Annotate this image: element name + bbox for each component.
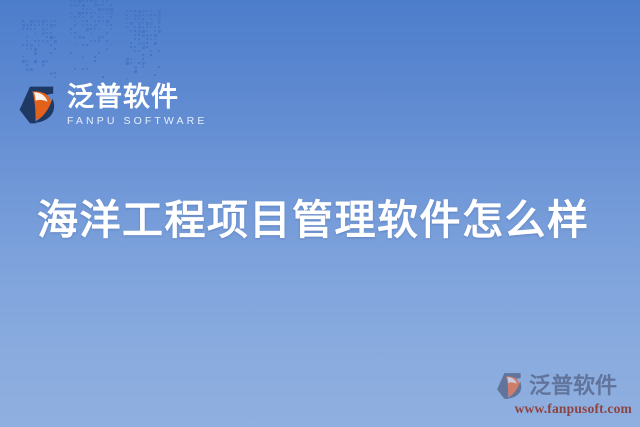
skyline-dot bbox=[82, 16, 84, 18]
skyline-dot bbox=[134, 34, 136, 36]
skyline-dot bbox=[50, 44, 52, 46]
skyline-dot bbox=[22, 20, 24, 22]
skyline-dot bbox=[26, 64, 28, 66]
skyline-dot bbox=[34, 24, 36, 26]
skyline-dot bbox=[142, 14, 144, 16]
skyline-dot bbox=[86, 0, 88, 2]
skyline-dot bbox=[54, 72, 56, 74]
skyline-dot bbox=[158, 30, 161, 33]
skyline-dot bbox=[82, 12, 84, 14]
skyline-dot bbox=[146, 42, 148, 44]
skyline-dot bbox=[86, 12, 88, 14]
skyline-dot bbox=[134, 70, 137, 73]
skyline-dot bbox=[110, 28, 112, 30]
skyline-dot bbox=[94, 60, 96, 62]
skyline-dot bbox=[106, 32, 108, 34]
skyline-dot bbox=[34, 48, 37, 51]
skyline-dot bbox=[70, 4, 73, 7]
skyline-dot bbox=[98, 40, 100, 42]
skyline-dot bbox=[26, 44, 28, 46]
skyline-dot bbox=[142, 42, 145, 45]
watermark-name-cn: 泛普软件 bbox=[529, 375, 617, 397]
dotted-skyline-pattern bbox=[22, 0, 172, 82]
skyline-dot bbox=[106, 0, 108, 2]
skyline-dot bbox=[102, 4, 104, 6]
skyline-dot bbox=[130, 58, 132, 60]
skyline-dot bbox=[90, 12, 92, 14]
skyline-dot bbox=[146, 38, 148, 40]
skyline-dot bbox=[138, 10, 141, 13]
skyline-dot bbox=[126, 18, 128, 20]
skyline-dot bbox=[90, 8, 92, 10]
skyline-dot bbox=[42, 24, 44, 26]
skyline-dot bbox=[150, 10, 152, 12]
skyline-dot bbox=[86, 20, 88, 22]
skyline-dot bbox=[146, 14, 148, 16]
skyline-dot bbox=[110, 4, 112, 6]
skyline-dot bbox=[34, 32, 36, 34]
skyline-dot bbox=[70, 28, 72, 30]
skyline-dot bbox=[106, 12, 108, 14]
skyline-dot bbox=[50, 32, 52, 34]
skyline-dot bbox=[22, 60, 25, 63]
skyline-dot bbox=[74, 32, 76, 34]
skyline-dot bbox=[90, 28, 92, 30]
skyline-dot bbox=[126, 78, 128, 80]
skyline-dot bbox=[46, 60, 48, 62]
brand-name-en: FANPU SOFTWARE bbox=[67, 116, 207, 127]
skyline-dot bbox=[158, 18, 161, 21]
skyline-dot bbox=[42, 28, 45, 31]
skyline-dot bbox=[138, 50, 140, 52]
skyline-dot bbox=[138, 18, 140, 20]
skyline-dot bbox=[130, 62, 132, 64]
skyline-dot bbox=[46, 36, 48, 38]
skyline-dot bbox=[74, 20, 76, 22]
skyline-dot bbox=[42, 40, 44, 42]
watermark: 泛普软件 www.fanpusoft.com bbox=[496, 372, 632, 417]
skyline-dot bbox=[98, 20, 100, 22]
skyline-dot bbox=[98, 8, 101, 11]
skyline-dot bbox=[50, 36, 53, 39]
skyline-dot bbox=[94, 12, 96, 14]
skyline-dot bbox=[34, 60, 37, 63]
skyline-dot bbox=[98, 36, 101, 39]
skyline-dot bbox=[130, 10, 132, 12]
skyline-dot bbox=[54, 24, 56, 26]
skyline-dot bbox=[134, 38, 136, 40]
skyline-dot bbox=[30, 68, 33, 71]
skyline-dot bbox=[78, 4, 80, 6]
skyline-dot bbox=[154, 30, 156, 32]
skyline-dot bbox=[146, 10, 148, 12]
skyline-dot bbox=[154, 74, 156, 76]
skyline-dot bbox=[150, 18, 152, 20]
skyline-dot bbox=[50, 52, 52, 54]
skyline-dot bbox=[154, 34, 157, 37]
skyline-dot bbox=[102, 36, 104, 38]
skyline-dot bbox=[74, 44, 76, 46]
skyline-dot bbox=[150, 54, 152, 56]
skyline-dot bbox=[50, 20, 52, 22]
skyline-dot bbox=[126, 26, 128, 28]
skyline-dot bbox=[130, 22, 133, 25]
skyline-dot bbox=[130, 42, 132, 44]
brand-lockup: 泛普软件 FANPU SOFTWARE bbox=[18, 84, 207, 127]
skyline-dot bbox=[46, 32, 48, 34]
skyline-dot bbox=[46, 24, 48, 26]
skyline-dot bbox=[86, 24, 88, 26]
skyline-dot bbox=[102, 20, 104, 22]
skyline-dot bbox=[70, 16, 72, 18]
skyline-dot bbox=[94, 0, 97, 3]
skyline-dot bbox=[38, 24, 40, 26]
skyline-dot bbox=[134, 66, 137, 69]
skyline-dot bbox=[70, 32, 72, 34]
skyline-dot bbox=[158, 50, 160, 52]
skyline-dot bbox=[86, 8, 88, 10]
skyline-dot bbox=[82, 44, 84, 46]
skyline-dot bbox=[90, 24, 92, 26]
skyline-dot bbox=[126, 10, 128, 12]
skyline-dot bbox=[90, 16, 93, 19]
skyline-dot bbox=[82, 24, 84, 26]
skyline-dot bbox=[70, 12, 72, 14]
skyline-dot bbox=[38, 40, 40, 42]
skyline-dot bbox=[54, 20, 56, 22]
skyline-dot bbox=[138, 42, 141, 45]
skyline-dot bbox=[94, 28, 96, 30]
page-title: 海洋工程项目管理软件怎么样 bbox=[37, 186, 590, 246]
skyline-dot bbox=[98, 52, 100, 54]
skyline-dot bbox=[38, 20, 40, 22]
skyline-dot bbox=[138, 30, 141, 33]
skyline-dot bbox=[138, 14, 141, 17]
skyline-dot bbox=[70, 52, 72, 54]
skyline-dot bbox=[154, 38, 156, 40]
skyline-dot bbox=[142, 10, 145, 13]
skyline-dot bbox=[26, 24, 29, 27]
skyline-dot bbox=[146, 30, 148, 32]
skyline-dot bbox=[70, 0, 72, 2]
brand-name-cn: 泛普软件 bbox=[67, 84, 207, 111]
watermark-row: 泛普软件 bbox=[496, 372, 632, 400]
skyline-dot bbox=[126, 22, 128, 24]
skyline-dot bbox=[106, 8, 109, 11]
skyline-dot bbox=[34, 52, 37, 55]
skyline-dot bbox=[38, 44, 40, 46]
watermark-url: www.fanpusoft.com bbox=[496, 401, 632, 417]
skyline-dot bbox=[126, 62, 129, 65]
skyline-dot bbox=[158, 66, 160, 68]
skyline-dot bbox=[142, 62, 145, 65]
skyline-dot bbox=[138, 34, 140, 36]
skyline-dot bbox=[46, 20, 48, 22]
skyline-dot bbox=[102, 0, 104, 2]
skyline-dot bbox=[78, 0, 81, 3]
skyline-dot bbox=[22, 44, 24, 46]
skyline-dot bbox=[106, 40, 108, 42]
skyline-dot bbox=[86, 68, 88, 70]
skyline-dot bbox=[134, 14, 137, 17]
fanpu-hexagon-logo-icon bbox=[496, 372, 524, 400]
skyline-dot bbox=[82, 68, 84, 70]
skyline-dot bbox=[82, 36, 85, 39]
skyline-dot bbox=[82, 56, 84, 58]
skyline-dot bbox=[130, 30, 132, 32]
skyline-dot bbox=[134, 46, 136, 48]
skyline-dot bbox=[54, 36, 56, 38]
skyline-dot bbox=[154, 42, 157, 45]
skyline-dot bbox=[94, 20, 96, 22]
skyline-dot bbox=[154, 14, 156, 16]
banner-canvas: 泛普软件 FANPU SOFTWARE 海洋工程项目管理软件怎么样 泛普软件 w… bbox=[0, 0, 640, 427]
skyline-dot bbox=[30, 24, 32, 26]
skyline-dot bbox=[74, 4, 77, 7]
skyline-dot bbox=[42, 20, 45, 23]
skyline-dot bbox=[86, 28, 89, 31]
skyline-dot bbox=[106, 24, 108, 26]
skyline-dot bbox=[102, 8, 105, 11]
skyline-dot bbox=[106, 20, 109, 23]
skyline-dot bbox=[34, 20, 36, 22]
skyline-dot bbox=[158, 10, 161, 13]
skyline-dot bbox=[138, 22, 141, 25]
skyline-dot bbox=[138, 38, 140, 40]
skyline-dot bbox=[86, 44, 88, 46]
skyline-dot bbox=[130, 46, 132, 48]
skyline-dot bbox=[74, 0, 76, 2]
skyline-dot bbox=[142, 26, 144, 28]
skyline-dot bbox=[30, 20, 33, 23]
skyline-dot bbox=[74, 16, 76, 18]
skyline-dot bbox=[134, 10, 136, 12]
skyline-dot bbox=[94, 40, 96, 42]
skyline-dot bbox=[142, 18, 144, 20]
skyline-dot bbox=[142, 30, 145, 33]
skyline-dot bbox=[106, 48, 108, 50]
skyline-dot bbox=[26, 36, 28, 38]
skyline-tower-mid bbox=[70, 0, 114, 82]
skyline-dot bbox=[82, 4, 85, 7]
skyline-dot bbox=[110, 8, 113, 11]
skyline-dot bbox=[94, 4, 97, 7]
skyline-dot bbox=[26, 40, 28, 42]
skyline-dot bbox=[146, 26, 148, 28]
skyline-dot bbox=[42, 60, 45, 63]
skyline-dot bbox=[54, 48, 56, 50]
skyline-dot bbox=[110, 12, 113, 15]
skyline-dot bbox=[126, 58, 129, 61]
skyline-dot bbox=[142, 58, 144, 60]
skyline-dot bbox=[134, 18, 136, 20]
skyline-dot bbox=[134, 30, 136, 32]
skyline-dot bbox=[150, 22, 153, 25]
skyline-dot bbox=[146, 46, 148, 48]
skyline-dot bbox=[78, 12, 81, 15]
skyline-dot bbox=[74, 36, 76, 38]
skyline-dot bbox=[126, 14, 128, 16]
skyline-dot bbox=[90, 32, 92, 34]
skyline-dot bbox=[22, 24, 25, 27]
skyline-dot bbox=[42, 32, 45, 35]
skyline-dot bbox=[26, 60, 28, 62]
skyline-dot bbox=[134, 26, 136, 28]
skyline-dot bbox=[42, 64, 45, 67]
skyline-dot bbox=[158, 26, 160, 28]
skyline-dot bbox=[142, 54, 144, 56]
skyline-dot bbox=[46, 28, 48, 30]
skyline-dot bbox=[150, 38, 152, 40]
skyline-dot bbox=[94, 56, 96, 58]
skyline-dot bbox=[150, 50, 152, 52]
skyline-dot bbox=[30, 28, 32, 30]
skyline-dot bbox=[94, 24, 97, 27]
skyline-dot bbox=[138, 26, 141, 29]
brand-words: 泛普软件 FANPU SOFTWARE bbox=[67, 84, 207, 127]
skyline-dot bbox=[134, 50, 136, 52]
skyline-dot bbox=[110, 44, 112, 46]
skyline-dot bbox=[154, 26, 156, 28]
skyline-dot bbox=[26, 28, 28, 30]
skyline-dot bbox=[26, 48, 28, 50]
skyline-dot bbox=[150, 14, 152, 16]
skyline-tower-right bbox=[126, 10, 164, 82]
skyline-dot bbox=[82, 20, 84, 22]
skyline-dot bbox=[102, 76, 104, 78]
skyline-dot bbox=[110, 16, 112, 18]
skyline-dot bbox=[98, 4, 100, 6]
skyline-dot bbox=[50, 72, 53, 75]
fanpu-hexagon-logo-icon bbox=[18, 85, 58, 125]
skyline-dot bbox=[102, 16, 104, 18]
skyline-dot bbox=[30, 44, 33, 47]
skyline-dot bbox=[54, 40, 57, 43]
skyline-tower-left bbox=[22, 20, 58, 82]
skyline-dot bbox=[26, 68, 29, 71]
skyline-dot bbox=[158, 14, 161, 17]
skyline-dot bbox=[98, 16, 100, 18]
skyline-dot bbox=[110, 24, 112, 26]
skyline-dot bbox=[78, 16, 80, 18]
skyline-dot bbox=[90, 40, 92, 42]
skyline-dot bbox=[50, 24, 53, 27]
skyline-dot bbox=[142, 34, 145, 37]
skyline-dot bbox=[46, 40, 49, 43]
skyline-dot bbox=[142, 22, 144, 24]
skyline-dot bbox=[34, 40, 36, 42]
skyline-dot bbox=[30, 48, 32, 50]
skyline-dot bbox=[150, 26, 152, 28]
skyline-dot bbox=[82, 8, 84, 10]
skyline-dot bbox=[22, 56, 24, 58]
skyline-dot bbox=[74, 68, 76, 70]
skyline-dot bbox=[90, 0, 92, 2]
skyline-dot bbox=[138, 62, 140, 64]
skyline-dot bbox=[34, 28, 36, 30]
skyline-dot bbox=[158, 22, 160, 24]
skyline-dot bbox=[54, 76, 56, 78]
skyline-dot bbox=[142, 46, 145, 49]
skyline-dot bbox=[146, 22, 149, 25]
skyline-dot bbox=[74, 24, 76, 26]
skyline-dot bbox=[22, 28, 24, 30]
skyline-dot bbox=[142, 66, 144, 68]
skyline-dot bbox=[82, 0, 84, 2]
skyline-dot bbox=[150, 34, 152, 36]
skyline-dot bbox=[146, 34, 149, 37]
skyline-dot bbox=[98, 28, 100, 30]
skyline-dot bbox=[78, 36, 81, 39]
